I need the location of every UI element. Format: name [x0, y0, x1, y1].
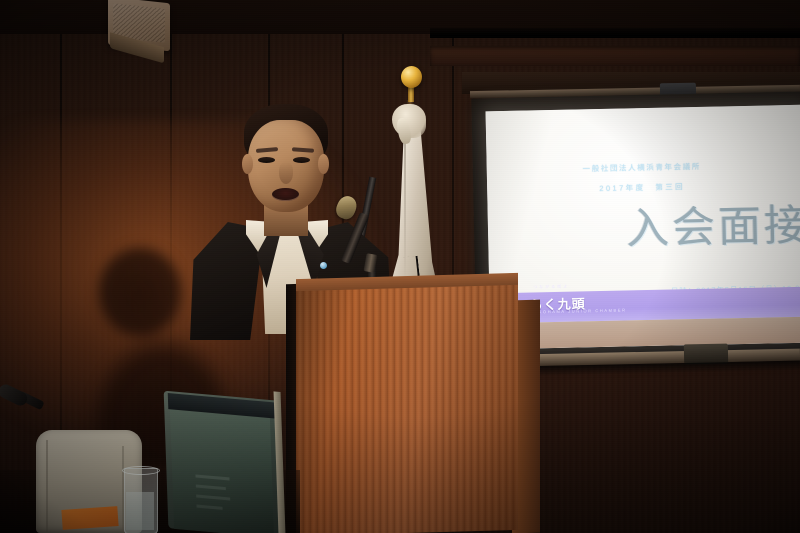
eye-right — [293, 157, 310, 163]
laptop-screen-content — [195, 468, 231, 515]
slide-header: 一般社団法人横浜青年会議所 2017年度 第三回 — [487, 159, 798, 196]
podium-front-panel — [296, 285, 518, 533]
water-glass — [124, 468, 158, 533]
nose — [279, 162, 293, 184]
ear-right — [318, 154, 329, 174]
ear-left — [242, 154, 253, 174]
band-top-text: つながる街よ — [533, 284, 569, 291]
slide-subtitle: 2017年度 第三回 — [487, 179, 797, 196]
wall-cornice — [430, 46, 800, 66]
glass-rim — [122, 466, 160, 475]
lapel-pin-icon — [320, 262, 327, 269]
photo-scene: 一般社団法人横浜青年会議所 2017年度 第三回 入会面接 日時：2017年5月… — [0, 0, 800, 533]
soffit-lip — [430, 28, 800, 38]
wall-speaker-box — [108, 0, 170, 51]
orange-card — [61, 506, 118, 530]
gold-ball-finial-icon — [401, 66, 422, 88]
podium-wood-grain — [296, 285, 518, 533]
slide-organization: 一般社団法人横浜青年会議所 — [487, 159, 797, 176]
mouth-speaking — [272, 188, 299, 201]
eye-left — [258, 157, 275, 163]
chair-cover-fold — [46, 440, 48, 532]
band-bottom-text: YOKOHAMA JUNIOR CHAMBER — [530, 307, 627, 314]
slide-title: 入会面接 — [626, 205, 800, 252]
flag-pole-neck — [408, 86, 414, 102]
